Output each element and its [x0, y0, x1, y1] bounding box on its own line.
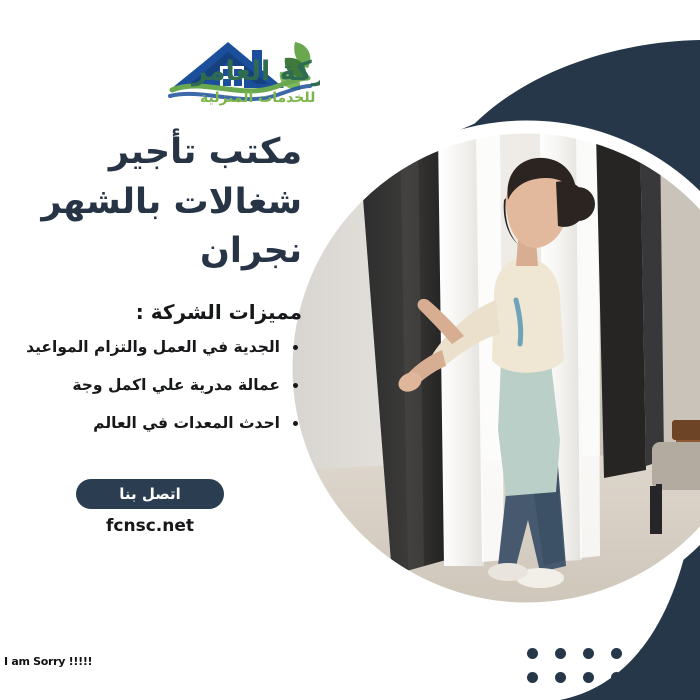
dot	[639, 672, 650, 683]
features-section: مميزات الشركة : الجدية في العمل والتزام …	[48, 300, 302, 452]
photo-ring-outline	[286, 127, 700, 609]
logo-brand-text: شركة العامر	[190, 56, 320, 87]
logo-tagline-text: للخدمات المنزلية	[200, 90, 315, 106]
ad-canvas: شركة العامر للخدمات المنزلية مكتب تأجير …	[0, 0, 700, 700]
dot	[555, 648, 566, 659]
list-item: الجدية في العمل والتزام المواعيد	[48, 338, 302, 356]
features-list: الجدية في العمل والتزام المواعيد عمالة م…	[48, 338, 302, 432]
bullet-icon	[293, 383, 298, 388]
dot	[527, 648, 538, 659]
headline-line-1: مكتب تأجير	[48, 128, 302, 178]
dot	[583, 672, 594, 683]
bullet-icon	[293, 345, 298, 350]
dot	[555, 672, 566, 683]
feature-text: احدث المعدات في العالم	[93, 414, 280, 432]
dot	[611, 648, 622, 659]
dot-grid-decoration	[527, 648, 695, 696]
headline-line-3: نجران	[48, 227, 302, 277]
watermark-text: I am Sorry !!!!!	[4, 655, 92, 668]
dot	[583, 648, 594, 659]
headline-line-2: شغالات بالشهر	[48, 178, 302, 228]
features-title: مميزات الشركة :	[48, 300, 302, 324]
headline: مكتب تأجير شغالات بالشهر نجران	[48, 128, 302, 277]
list-item: احدث المعدات في العالم	[48, 414, 302, 432]
dot	[611, 672, 622, 683]
photo-circle	[292, 133, 700, 610]
contact-us-button[interactable]: اتصل بنا	[76, 479, 224, 509]
photo-white-ring	[281, 122, 700, 614]
company-logo: شركة العامر للخدمات المنزلية	[52, 22, 320, 110]
list-item: عمالة مدرية علي اكمل وجة	[48, 376, 302, 394]
dot	[639, 648, 650, 659]
woman-figure	[395, 158, 595, 588]
dot	[527, 672, 538, 683]
navy-crescent-shape	[440, 30, 700, 700]
feature-text: عمالة مدرية علي اكمل وجة	[72, 376, 280, 394]
bullet-icon	[293, 421, 298, 426]
dot	[667, 672, 678, 683]
feature-text: الجدية في العمل والتزام المواعيد	[26, 338, 280, 356]
website-url[interactable]: fcnsc.net	[76, 516, 224, 536]
dot	[667, 648, 678, 659]
logo-graphic: شركة العامر للخدمات المنزلية	[52, 22, 320, 110]
